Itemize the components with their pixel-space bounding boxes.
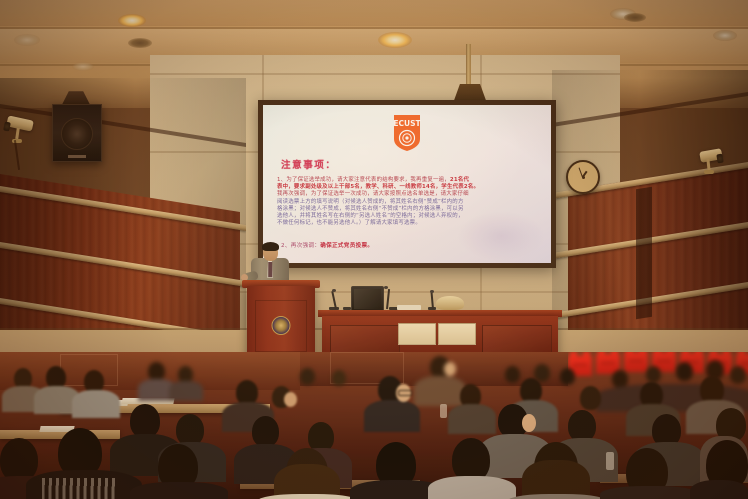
slide-body-line-4: 阅读选票上方的填写说明（对候选人赞成的，将其姓名右侧“赞成”栏内的方	[277, 199, 464, 205]
audience-head	[130, 404, 160, 438]
audience-head	[560, 368, 575, 385]
audience-glasses-icon	[398, 390, 412, 396]
audience-head	[252, 416, 279, 447]
audience-shoulders	[448, 404, 496, 434]
clock-center	[582, 176, 585, 179]
tshirt-graphic	[42, 478, 118, 499]
presenter-hair	[262, 242, 279, 251]
audience-shoulders	[414, 376, 466, 406]
podium	[247, 286, 315, 360]
audience-head	[332, 370, 346, 386]
slide-body-line-3: 我再次强调，为了保证选举一次成功，请大家按照点选名单选是，请大家仔细	[277, 191, 469, 197]
audience-face	[444, 362, 456, 376]
table-paper	[398, 323, 436, 345]
audience-head	[300, 368, 315, 385]
desk-paper	[397, 305, 421, 310]
projection-screen: ECUST 注意事项： 1、为了保证选举成功，请大家注意代表的结构要求，我再重复…	[263, 105, 551, 263]
audience-head	[646, 366, 661, 383]
podium-emblem-icon	[272, 316, 291, 335]
speaker-badge	[68, 155, 86, 158]
audience-face	[284, 392, 297, 407]
audience-head	[730, 366, 746, 384]
water-bottle	[606, 452, 614, 470]
audience-head	[676, 362, 693, 381]
presider-monitor	[351, 286, 384, 312]
ceiling-light	[378, 32, 412, 48]
slide-body-line-2: 表中，要求副处级及以上干部5名，教学、科研、一线教师14名，学生代表2名。	[277, 184, 479, 190]
lecture-hall-photo: EPSON ECUST 注意事项： 1、为了保证选举成功，请大家注意代表的结构要…	[0, 0, 748, 499]
slide-last-line: 2、再次强调：确保正式党员投票。	[281, 241, 373, 249]
audience-head	[505, 366, 520, 383]
audience-shoulders	[600, 486, 700, 499]
ecust-logo: ECUST	[392, 115, 422, 151]
speaker-cone-icon	[61, 118, 93, 150]
audience-shoulders	[130, 482, 228, 499]
audience-shoulders	[690, 480, 748, 499]
ceiling-light	[72, 62, 94, 71]
desk-bag	[436, 296, 464, 310]
ceiling-light	[713, 30, 737, 41]
slide-body-line-6: 选他人，并将其姓名写在右侧的“另选人姓名”的空格内；对候选人弃权的，	[277, 213, 464, 219]
ceiling-light-off	[624, 13, 646, 22]
audience-shoulders	[169, 381, 203, 401]
slide-title: 注意事项：	[281, 157, 337, 171]
audience-shoulders	[258, 494, 358, 499]
audience-shoulders	[508, 494, 606, 499]
ceiling-light	[14, 34, 40, 46]
presenter-tie	[268, 262, 272, 277]
audience-face	[522, 414, 536, 432]
slide-body: 1、为了保证选举成功，请大家注意代表的结构要求，我再重复一遍，21名代 表中，要…	[277, 177, 539, 227]
table-paper	[438, 323, 476, 345]
slide-body-line-1: 1、为了保证选举成功，请大家注意代表的结构要求，我再重复一遍，	[277, 177, 450, 183]
audience-shoulders	[428, 476, 516, 499]
microphone-head	[384, 286, 388, 289]
slide-body-line-1-highlight: 21名代	[450, 177, 469, 183]
audience-shoulders	[72, 390, 120, 418]
microphone-head	[332, 289, 336, 292]
projector-pole	[466, 44, 471, 90]
audience-head	[580, 386, 601, 410]
audience-shoulders	[364, 400, 420, 432]
slide-body-line-5: 格涂黑；对候选人不赞成，将其姓名右侧“不赞成”栏内的方格涂黑，可以另	[277, 206, 464, 212]
slide-body-line-7: 不做任何标记，也不能另选他人。）了解请大家填写选票。	[277, 220, 421, 226]
svg-text:ECUST: ECUST	[393, 119, 421, 128]
ceiling-light-off	[128, 38, 152, 48]
microphone-head	[430, 290, 434, 293]
water-bottle	[440, 404, 447, 418]
wall-speaker	[52, 104, 102, 162]
desk-object	[343, 307, 351, 310]
wall-clock	[566, 160, 600, 194]
slide-last-line-highlight: 确保正式党员投票。	[320, 243, 373, 249]
slide-last-line-prefix: 2、再次强调：	[281, 243, 320, 249]
audience-area	[0, 352, 748, 499]
ceiling-light	[118, 14, 146, 27]
